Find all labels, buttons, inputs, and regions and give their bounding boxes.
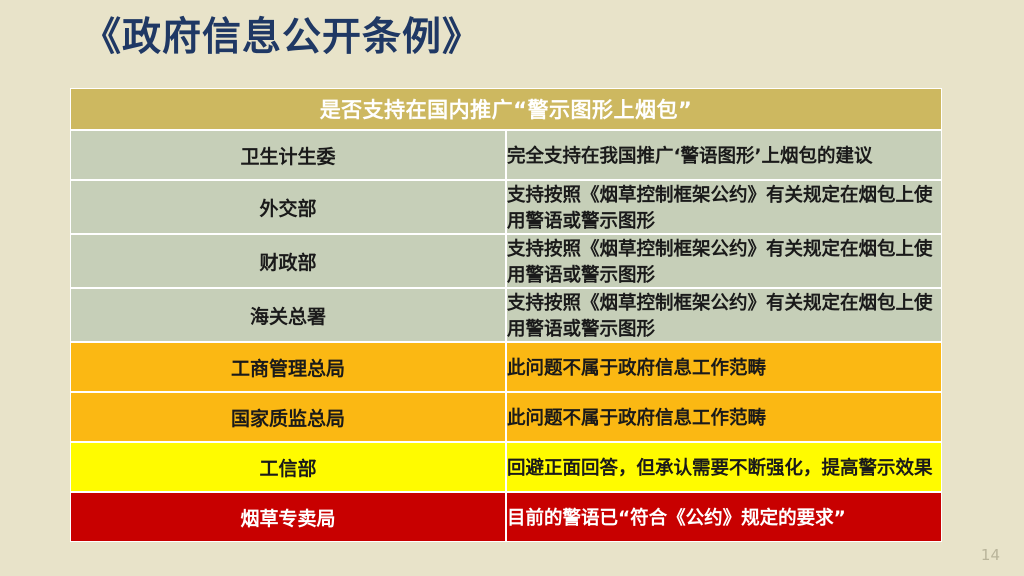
table-header-label: 是否支持在国内推广“警示图形上烟包” bbox=[70, 88, 942, 130]
agency-name: 海关总署 bbox=[70, 288, 506, 342]
agency-name: 外交部 bbox=[70, 180, 506, 234]
agency-name: 工商管理总局 bbox=[70, 342, 506, 392]
table-row: 财政部 支持按照《烟草控制框架公约》有关规定在烟包上使用警语或警示图形 bbox=[70, 234, 942, 288]
page-title: 《政府信息公开条例》 bbox=[82, 14, 482, 63]
table-row: 卫生计生委 完全支持在我国推广‘警语图形’上烟包的建议 bbox=[70, 130, 942, 180]
agency-name: 财政部 bbox=[70, 234, 506, 288]
table-row: 国家质监总局 此问题不属于政府信息工作范畴 bbox=[70, 392, 942, 442]
agency-response-table-wrap: 是否支持在国内推广“警示图形上烟包” 卫生计生委 完全支持在我国推广‘警语图形’… bbox=[70, 88, 942, 542]
table-row: 工信部 回避正面回答，但承认需要不断强化，提高警示效果 bbox=[70, 442, 942, 492]
table-row: 海关总署 支持按照《烟草控制框架公约》有关规定在烟包上使用警语或警示图形 bbox=[70, 288, 942, 342]
table-row: 工商管理总局 此问题不属于政府信息工作范畴 bbox=[70, 342, 942, 392]
agency-response: 回避正面回答，但承认需要不断强化，提高警示效果 bbox=[506, 442, 942, 492]
agency-response: 支持按照《烟草控制框架公约》有关规定在烟包上使用警语或警示图形 bbox=[506, 234, 942, 288]
agency-response: 完全支持在我国推广‘警语图形’上烟包的建议 bbox=[506, 130, 942, 180]
agency-name: 国家质监总局 bbox=[70, 392, 506, 442]
agency-name: 卫生计生委 bbox=[70, 130, 506, 180]
table-header-row: 是否支持在国内推广“警示图形上烟包” bbox=[70, 88, 942, 130]
agency-name: 烟草专卖局 bbox=[70, 492, 506, 542]
agency-response: 目前的警语已“符合《公约》规定的要求” bbox=[506, 492, 942, 542]
table-row: 外交部 支持按照《烟草控制框架公约》有关规定在烟包上使用警语或警示图形 bbox=[70, 180, 942, 234]
table-row: 烟草专卖局 目前的警语已“符合《公约》规定的要求” bbox=[70, 492, 942, 542]
page-number: 14 bbox=[981, 546, 1000, 564]
agency-response: 此问题不属于政府信息工作范畴 bbox=[506, 342, 942, 392]
agency-response: 支持按照《烟草控制框架公约》有关规定在烟包上使用警语或警示图形 bbox=[506, 180, 942, 234]
agency-name: 工信部 bbox=[70, 442, 506, 492]
agency-response: 此问题不属于政府信息工作范畴 bbox=[506, 392, 942, 442]
slide-root: 《政府信息公开条例》 是否支持在国内推广“警示图形上烟包” 卫生计生委 完全支持… bbox=[0, 0, 1024, 576]
table-body: 是否支持在国内推广“警示图形上烟包” 卫生计生委 完全支持在我国推广‘警语图形’… bbox=[70, 88, 942, 542]
agency-response-table: 是否支持在国内推广“警示图形上烟包” 卫生计生委 完全支持在我国推广‘警语图形’… bbox=[70, 88, 942, 542]
agency-response: 支持按照《烟草控制框架公约》有关规定在烟包上使用警语或警示图形 bbox=[506, 288, 942, 342]
